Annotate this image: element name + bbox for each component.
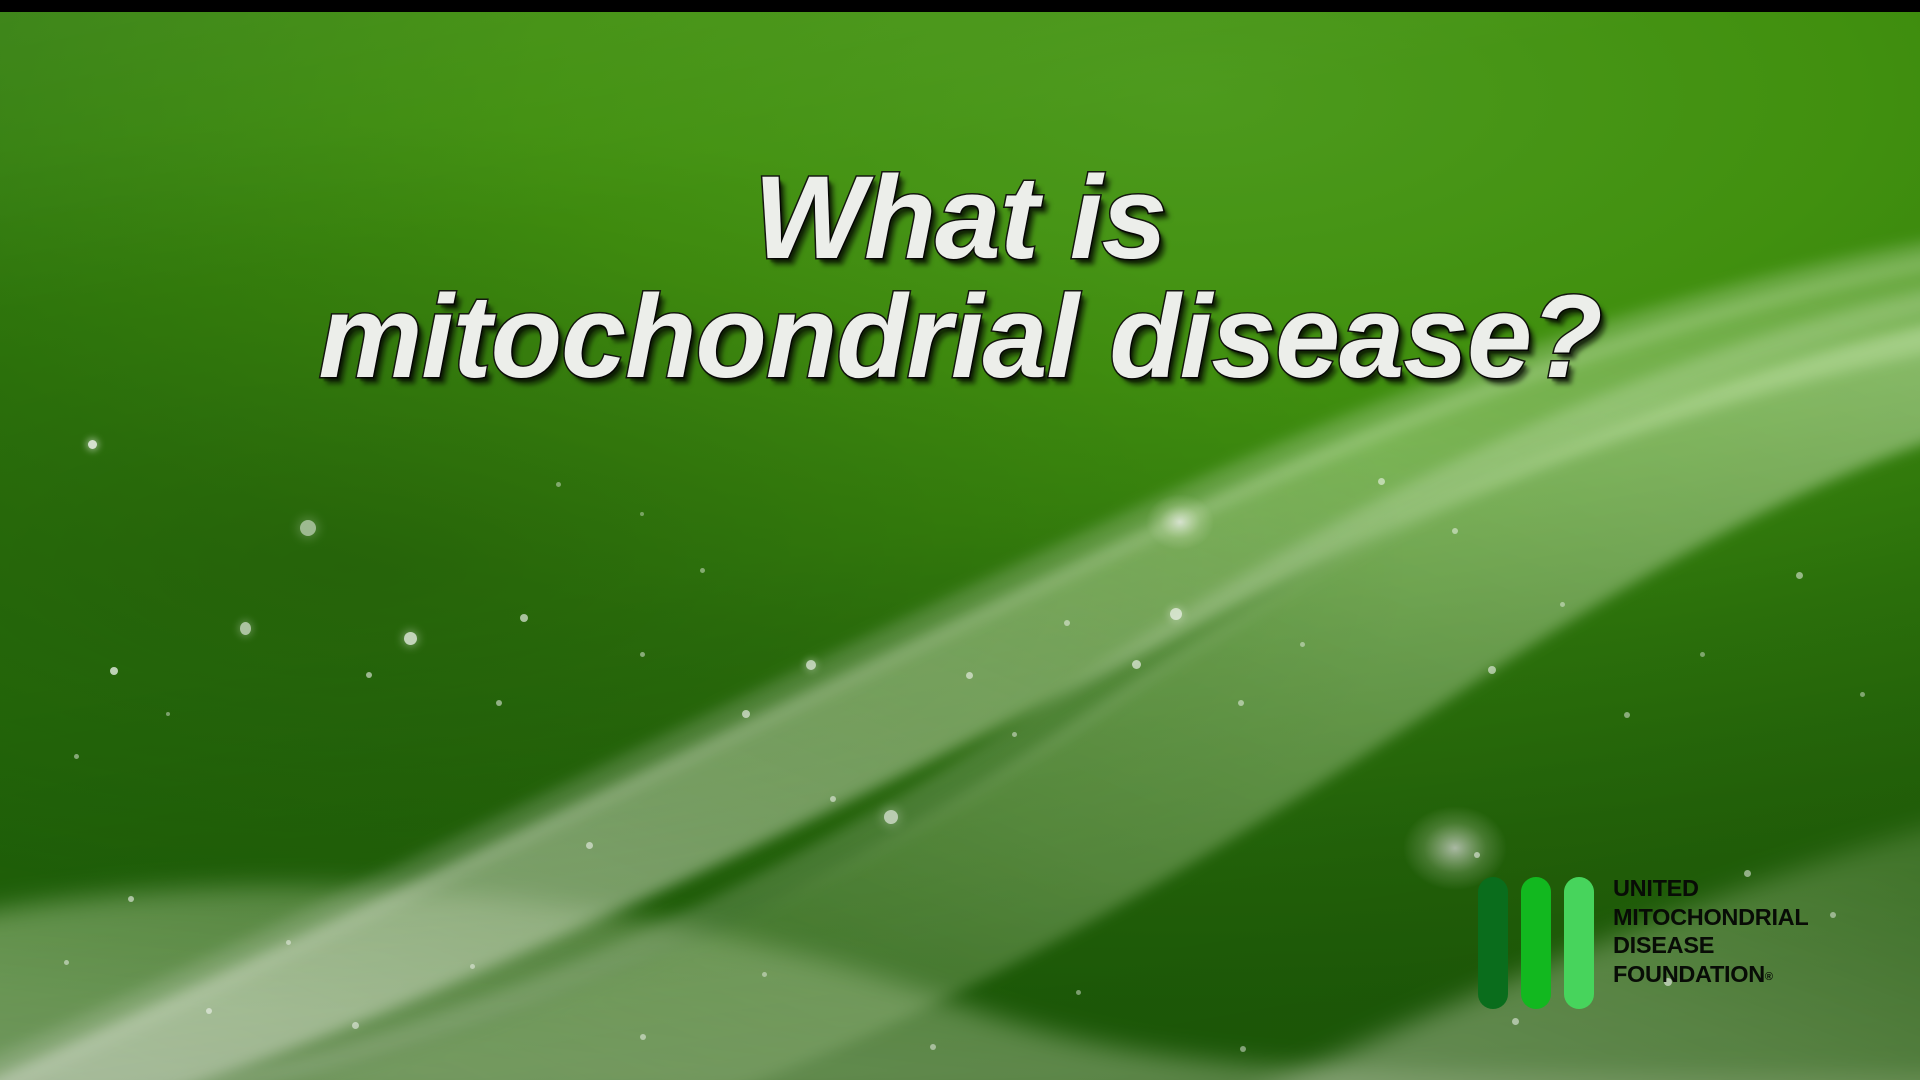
umdf-logo-wordmark: UNITED MITOCHONDRIAL DISEASE FOUNDATION® [1613, 874, 1808, 991]
title-slide: What is mitochondrial disease? UNITED MI… [0, 0, 1920, 1080]
wordmark-foundation-text: FOUNDATION [1613, 961, 1765, 987]
wordmark-line-mitochondrial: MITOCHONDRIAL [1613, 903, 1808, 932]
umdf-logo: UNITED MITOCHONDRIAL DISEASE FOUNDATION® [1478, 870, 1898, 1020]
registered-trademark-icon: ® [1765, 971, 1773, 983]
headline-line-2: mitochondrial disease? [10, 274, 1911, 400]
wordmark-line-foundation: FOUNDATION® [1613, 960, 1808, 992]
logo-bar-dark-icon [1478, 877, 1508, 1009]
letterbox-bar-top [0, 0, 1920, 12]
headline-line-1: What is [0, 162, 1920, 274]
wordmark-line-disease: DISEASE [1613, 931, 1808, 960]
slide-headline: What is mitochondrial disease? [0, 162, 1920, 400]
wordmark-line-united: UNITED [1613, 874, 1808, 903]
logo-bar-light-icon [1564, 877, 1594, 1009]
logo-bar-medium-icon [1521, 877, 1551, 1009]
slide-background: What is mitochondrial disease? UNITED MI… [0, 12, 1920, 1080]
umdf-logo-bars [1478, 877, 1594, 1009]
